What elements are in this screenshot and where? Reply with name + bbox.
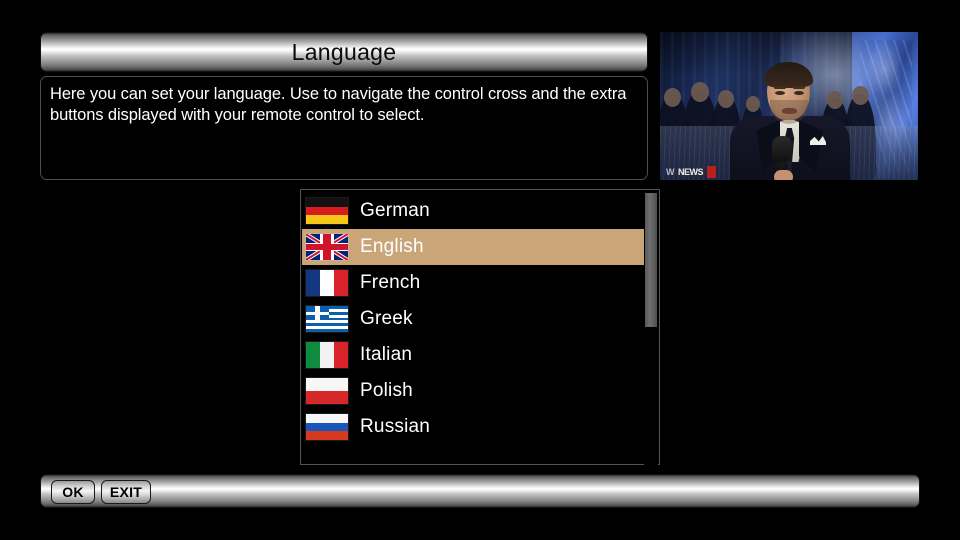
crowd-head (664, 88, 681, 107)
language-item-label: German (360, 200, 430, 222)
channel-logo-text-right: NEWS (676, 167, 705, 177)
help-panel: Here you can set your language. Use to n… (40, 76, 648, 180)
language-item-italian[interactable]: Italian (302, 337, 645, 373)
reporter-mouth (782, 108, 797, 114)
microphone-head (772, 136, 792, 162)
page-title-bar: Language (40, 32, 648, 72)
reporter-eye-right (794, 91, 804, 95)
language-item-german[interactable]: German (302, 193, 645, 229)
channel-logo-mark (707, 166, 716, 178)
crowd-head (746, 96, 760, 112)
language-item-label: English (360, 236, 424, 258)
flag-icon-de (306, 198, 348, 224)
language-item-greek[interactable]: Greek (302, 301, 645, 337)
language-item-polish[interactable]: Polish (302, 373, 645, 409)
tv-settings-screen: Language Here you can set your language.… (0, 0, 960, 540)
reporter-eyebrow-left (774, 86, 786, 89)
flag-icon-pl (306, 378, 348, 404)
crowd-head (852, 86, 869, 105)
language-list-panel: GermanEnglishFrenchGreekItalianPolishRus… (300, 189, 660, 465)
channel-logo-text-left: W (666, 167, 674, 177)
video-preview[interactable]: W NEWS (660, 32, 918, 180)
list-scrollbar-thumb[interactable] (645, 193, 657, 327)
language-item-label: Polish (360, 380, 413, 402)
list-scrollbar[interactable] (644, 191, 658, 465)
exit-button[interactable]: EXIT (101, 480, 151, 504)
language-item-french[interactable]: French (302, 265, 645, 301)
help-text: Here you can set your language. Use to n… (50, 84, 636, 126)
channel-logo: W NEWS (666, 165, 716, 178)
page-title: Language (41, 33, 647, 73)
flag-icon-ru (306, 414, 348, 440)
reporter-eyebrow-right (793, 86, 805, 89)
flag-icon-it (306, 342, 348, 368)
flag-icon-fr (306, 270, 348, 296)
crowd-head (718, 90, 734, 108)
flag-icon-gr (306, 306, 348, 332)
language-item-russian[interactable]: Russian (302, 409, 645, 445)
language-item-label: Italian (360, 344, 412, 366)
language-list[interactable]: GermanEnglishFrenchGreekItalianPolishRus… (302, 193, 645, 445)
ok-button[interactable]: OK (51, 480, 95, 504)
language-item-label: French (360, 272, 420, 294)
flag-icon-gb (306, 234, 348, 260)
reporter-hand (774, 170, 793, 180)
crowd-head (691, 82, 709, 102)
reporter-eye-left (775, 91, 785, 95)
softkey-bar: OK EXIT (40, 474, 920, 508)
language-item-english[interactable]: English (302, 229, 645, 265)
language-item-label: Greek (360, 308, 413, 330)
crowd-head (827, 91, 843, 109)
language-item-label: Russian (360, 416, 430, 438)
